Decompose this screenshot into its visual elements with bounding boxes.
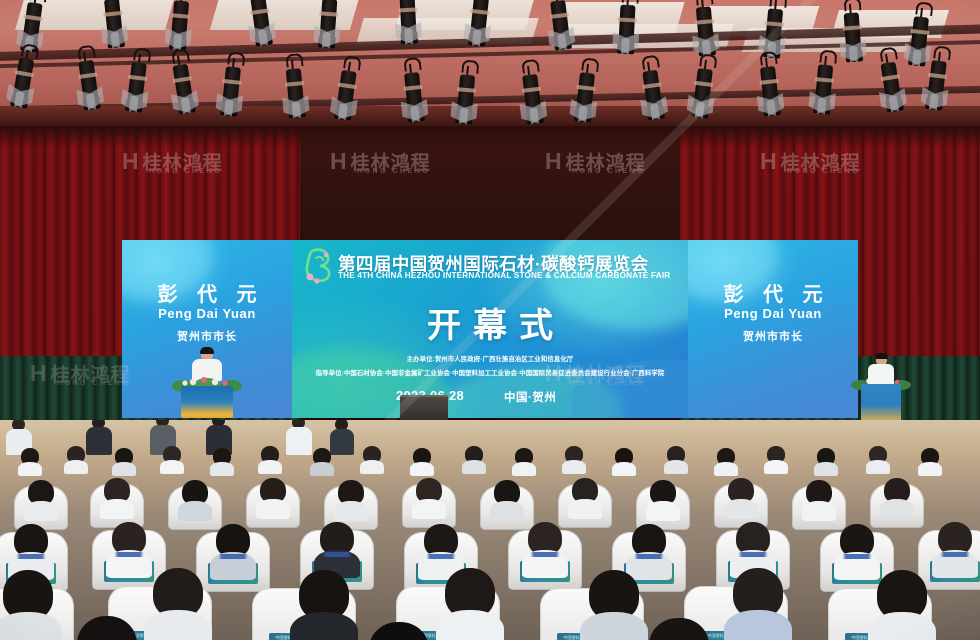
audience-member [0, 570, 62, 640]
guidance-line: 指导单位:中国石材协会·中国非金属矿工业协会·中国塑料加工工业协会·中国国际贸易… [292, 368, 688, 377]
main-led-screen: 第四届中国贺州国际石材·碳酸钙展览会 THE 4TH CHINA HEZHOU … [292, 240, 688, 418]
audience-member [64, 446, 88, 472]
audience-member [360, 622, 438, 640]
audience-member [868, 570, 936, 640]
opening-ceremony-headline: 开幕式 [292, 298, 688, 347]
conference-opening-ceremony-photo: 第四届中国贺州国际石材·碳酸钙展览会 THE 4TH CHINA HEZHOU … [0, 0, 980, 640]
audience-member [144, 568, 212, 640]
audience-member [724, 568, 792, 640]
audience-member [462, 446, 486, 472]
audience-member [562, 446, 586, 472]
feed-podium [181, 386, 233, 418]
audience-member [314, 522, 360, 576]
person-standing [86, 420, 112, 454]
audience-member [24, 480, 58, 518]
audience-member [880, 478, 914, 516]
audience-member [568, 478, 602, 516]
audience-member [210, 448, 234, 474]
audience-member [112, 448, 136, 474]
speaker-role: 贺州市市长 [122, 328, 292, 344]
audience-member [258, 446, 282, 472]
audience-member [512, 448, 536, 474]
audience-member [68, 616, 146, 640]
live-camera-feed-left [140, 346, 274, 418]
speaker-at-podium [866, 354, 896, 386]
audience-member [714, 448, 738, 474]
audience-member [334, 480, 368, 518]
audience-member [866, 446, 890, 472]
fair-title-en: THE 4TH CHINA HEZHOU INTERNATIONAL STONE… [338, 271, 682, 280]
speaker-name-cn: 彭 代 元 [122, 278, 292, 307]
audience-member [436, 568, 504, 640]
audience-member [290, 570, 358, 640]
speaker-name-cn: 彭 代 元 [688, 278, 858, 307]
audience-member [580, 570, 648, 640]
audience-member [360, 446, 384, 472]
ceiling [0, 0, 980, 132]
audience-member [256, 478, 290, 516]
audience-member [310, 448, 334, 474]
side-led-screen-left: 彭 代 元 Peng Dai Yuan 贺州市市长 [122, 240, 292, 418]
speaker-name-pinyin: Peng Dai Yuan [688, 306, 858, 321]
audience-member [640, 618, 718, 640]
curtain-top-shadow [0, 126, 980, 148]
audience-member [664, 446, 688, 472]
audience-member [160, 446, 184, 472]
audience-member [100, 478, 134, 516]
organizer-line: 主办单位:贺州市人民政府·广西壮族自治区工业和信息化厅 [292, 354, 688, 363]
audience-member [724, 478, 758, 516]
audience-member [918, 448, 942, 474]
audience-member [802, 480, 836, 518]
audience-member [210, 524, 256, 578]
audience-member [412, 478, 446, 516]
audience-member [18, 448, 42, 474]
audience-member [646, 480, 680, 518]
audience-member [410, 448, 434, 474]
side-led-screen-right: 彭 代 元 Peng Dai Yuan 贺州市市长 [688, 240, 858, 418]
audience-member [178, 480, 212, 518]
audience-member [612, 448, 636, 474]
audience-member [932, 522, 978, 576]
audience-member [490, 480, 524, 518]
audience-seating: 中国塑料加工工业 协会参会嘉宾 中国塑料加工工业 协会参会嘉宾 中国塑料加工工业… [0, 420, 980, 640]
person-standing [286, 420, 312, 454]
speaker-role: 贺州市市长 [688, 328, 858, 344]
event-location: 中国·贺州 [504, 389, 556, 405]
audience-member [522, 522, 568, 576]
audience-member [814, 448, 838, 474]
audience-member [764, 446, 788, 472]
speaker-name-pinyin: Peng Dai Yuan [122, 306, 292, 321]
